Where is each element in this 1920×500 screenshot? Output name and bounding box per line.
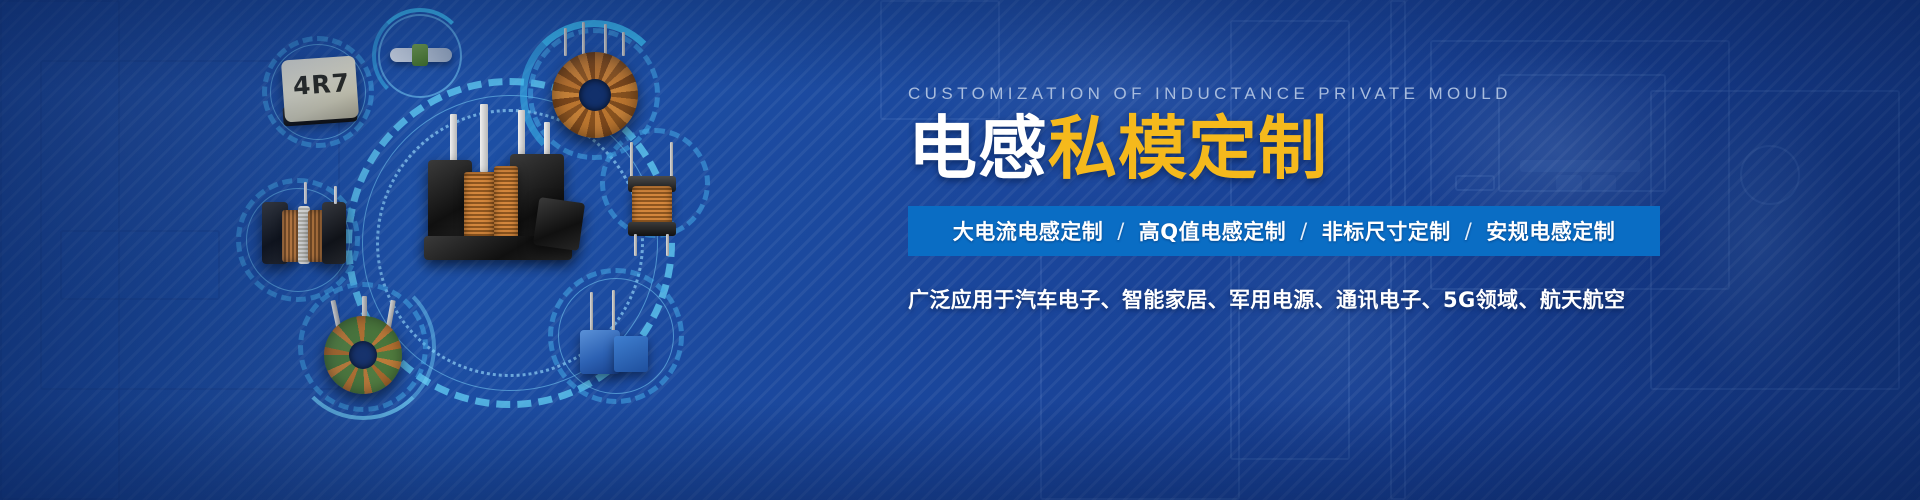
feature-separator-1: / bbox=[1103, 219, 1139, 243]
feature-item-1: 大电流电感定制 bbox=[953, 216, 1104, 246]
banner-headline: 电感私模定制 bbox=[908, 114, 1888, 184]
feature-item-4: 安规电感定制 bbox=[1486, 216, 1615, 246]
feature-list: 大电流电感定制 / 高Q值电感定制 / 非标尺寸定制 / 安规电感定制 bbox=[953, 216, 1616, 246]
feature-separator-2: / bbox=[1286, 219, 1322, 243]
feature-item-2: 高Q值电感定制 bbox=[1139, 216, 1286, 246]
feature-bar: 大电流电感定制 / 高Q值电感定制 / 非标尺寸定制 / 安规电感定制 bbox=[908, 206, 1660, 256]
headline-part-gold: 私模定制 bbox=[1048, 109, 1328, 189]
banner-tagline: 广泛应用于汽车电子、智能家居、军用电源、通讯电子、5G领域、航天航空 bbox=[908, 284, 1888, 314]
banner-text-block: CUSTOMIZATION OF INDUCTANCE PRIVATE MOUL… bbox=[908, 84, 1888, 314]
feature-item-3: 非标尺寸定制 bbox=[1322, 216, 1451, 246]
feature-separator-3: / bbox=[1451, 219, 1487, 243]
promo-banner: 4R7 bbox=[0, 0, 1920, 500]
banner-eyebrow-english: CUSTOMIZATION OF INDUCTANCE PRIVATE MOUL… bbox=[908, 84, 1888, 104]
headline-part-white: 电感 bbox=[908, 109, 1048, 189]
